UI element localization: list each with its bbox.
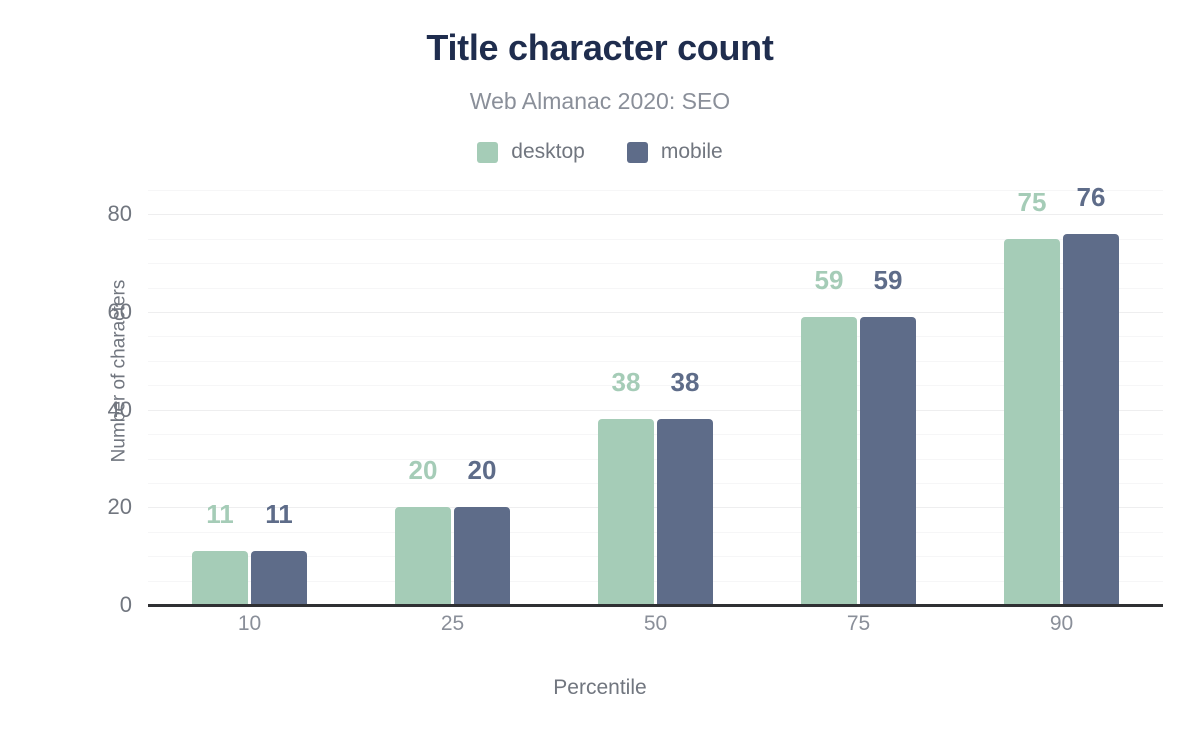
- y-tick-label: 20: [108, 494, 132, 520]
- plot-area: 11112020383859597576: [148, 190, 1163, 605]
- bar-value-label-desktop-25: 20: [409, 455, 438, 486]
- chart-legend: desktopmobile: [0, 140, 1200, 164]
- legend-item-mobile[interactable]: mobile: [627, 140, 723, 164]
- bars-layer: 11112020383859597576: [148, 190, 1163, 605]
- x-tick-label-10: 10: [238, 612, 261, 636]
- y-tick-label: 0: [120, 592, 132, 618]
- chart-title: Title character count: [0, 28, 1200, 68]
- bar-desktop-90[interactable]: [1004, 239, 1060, 605]
- chart-subtitle: Web Almanac 2020: SEO: [0, 88, 1200, 115]
- legend-swatch-desktop: [477, 142, 498, 163]
- x-tick-label-25: 25: [441, 612, 464, 636]
- bar-value-label-desktop-10: 11: [206, 499, 234, 530]
- bar-value-label-desktop-90: 75: [1018, 187, 1047, 218]
- legend-label-mobile: mobile: [661, 140, 723, 164]
- bar-mobile-90[interactable]: [1063, 234, 1119, 605]
- bar-mobile-10[interactable]: [251, 551, 307, 605]
- legend-swatch-mobile: [627, 142, 648, 163]
- x-tick-label-50: 50: [644, 612, 667, 636]
- bar-mobile-50[interactable]: [657, 419, 713, 605]
- x-axis-title: Percentile: [0, 676, 1200, 700]
- bar-value-label-desktop-75: 59: [815, 265, 844, 296]
- x-tick-label-90: 90: [1050, 612, 1073, 636]
- x-tick-label-75: 75: [847, 612, 870, 636]
- legend-label-desktop: desktop: [511, 140, 585, 164]
- x-axis-tick-labels: 1025507590: [148, 612, 1163, 652]
- bar-value-label-mobile-90: 76: [1077, 182, 1106, 213]
- bar-value-label-mobile-50: 38: [671, 367, 700, 398]
- bar-value-label-mobile-75: 59: [874, 265, 903, 296]
- bar-mobile-75[interactable]: [860, 317, 916, 605]
- bar-desktop-25[interactable]: [395, 507, 451, 605]
- legend-item-desktop[interactable]: desktop: [477, 140, 585, 164]
- bar-desktop-50[interactable]: [598, 419, 654, 605]
- y-tick-label: 80: [108, 201, 132, 227]
- bar-desktop-10[interactable]: [192, 551, 248, 605]
- x-axis-line: [148, 604, 1163, 607]
- bar-desktop-75[interactable]: [801, 317, 857, 605]
- bar-value-label-mobile-25: 20: [468, 455, 497, 486]
- bar-value-label-mobile-10: 11: [265, 499, 293, 530]
- y-axis-title: Number of characters: [108, 280, 130, 463]
- bar-value-label-desktop-50: 38: [612, 367, 641, 398]
- chart-container: Title character count Web Almanac 2020: …: [0, 0, 1200, 742]
- bar-mobile-25[interactable]: [454, 507, 510, 605]
